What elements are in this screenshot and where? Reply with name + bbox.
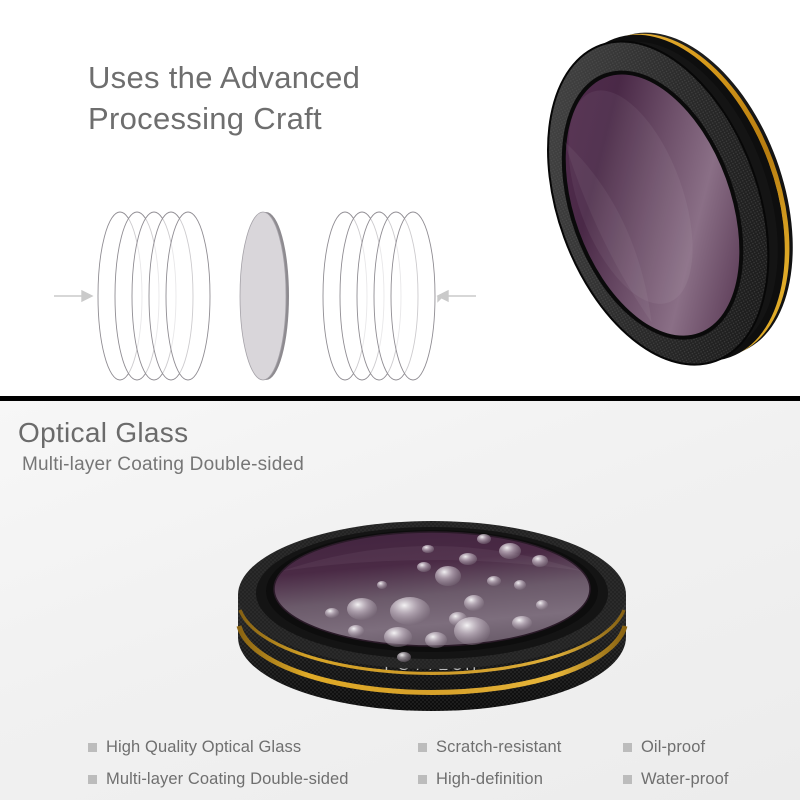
feature-item: High-definition xyxy=(418,770,623,789)
feature-label: High-definition xyxy=(436,770,543,789)
bullet-square-icon xyxy=(623,775,632,784)
lens-filter-angled-photo: PGYTECH xyxy=(516,2,800,396)
arrow-left-inward xyxy=(54,291,92,301)
bottom-panel: Optical Glass Multi-layer Coating Double… xyxy=(0,401,800,800)
optical-glass-heading: Optical Glass xyxy=(18,417,188,449)
feature-item: High Quality Optical Glass xyxy=(88,738,418,757)
arrow-right-inward xyxy=(438,291,476,301)
feature-label: Oil-proof xyxy=(641,738,705,757)
feature-label: Scratch-resistant xyxy=(436,738,562,757)
bullet-square-icon xyxy=(418,775,427,784)
left-coating-layers xyxy=(98,212,210,380)
feature-item: Water-proof xyxy=(623,770,778,789)
bullet-square-icon xyxy=(418,743,427,752)
bullet-square-icon xyxy=(88,743,97,752)
bullet-square-icon xyxy=(88,775,97,784)
lens-filter-waterdrop-photo: PGYTECH xyxy=(222,463,642,723)
feature-item: Multi-layer Coating Double-sided xyxy=(88,770,418,789)
multi-layer-coating-diagram xyxy=(40,196,490,396)
bullet-square-icon xyxy=(623,743,632,752)
feature-item: Scratch-resistant xyxy=(418,738,623,757)
feature-list: High Quality Optical Glass Scratch-resis… xyxy=(88,731,778,795)
feature-item: Oil-proof xyxy=(623,738,778,757)
feature-label: Water-proof xyxy=(641,770,729,789)
product-marketing-image: Uses the Advanced Processing Craft xyxy=(0,0,800,800)
feature-label: Multi-layer Coating Double-sided xyxy=(106,770,349,789)
top-panel: Uses the Advanced Processing Craft xyxy=(0,0,800,396)
feature-label: High Quality Optical Glass xyxy=(106,738,301,757)
top-headline: Uses the Advanced Processing Craft xyxy=(88,57,428,139)
center-glass-disc xyxy=(240,212,289,380)
right-coating-layers xyxy=(323,212,435,380)
